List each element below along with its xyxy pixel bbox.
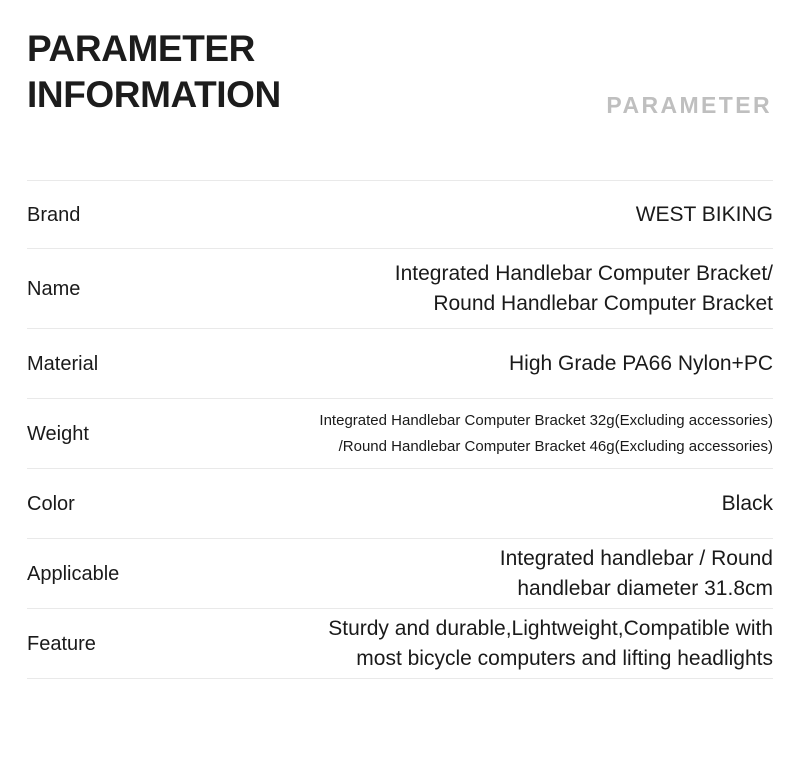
spec-value-brand: WEST BIKING xyxy=(159,200,773,230)
spec-label-color: Color xyxy=(27,491,159,517)
spec-value-name: Integrated Handlebar Computer Bracket/ R… xyxy=(159,259,773,319)
spec-label-applicable: Applicable xyxy=(27,561,159,587)
table-row: Brand WEST BIKING xyxy=(27,181,773,249)
spec-label-name: Name xyxy=(27,276,159,302)
table-row: Feature Sturdy and durable,Lightweight,C… xyxy=(27,609,773,679)
table-row: Name Integrated Handlebar Computer Brack… xyxy=(27,249,773,329)
spec-label-brand: Brand xyxy=(27,202,159,228)
spec-label-feature: Feature xyxy=(27,631,159,657)
table-row: Color Black xyxy=(27,469,773,539)
spec-label-weight: Weight xyxy=(27,421,159,447)
page-header: PARAMETER INFORMATION PARAMETER xyxy=(0,0,800,152)
parameter-information-page: PARAMETER INFORMATION PARAMETER Brand WE… xyxy=(0,0,800,776)
spec-label-material: Material xyxy=(27,351,159,377)
page-title: PARAMETER INFORMATION xyxy=(27,26,281,118)
spec-value-applicable: Integrated handlebar / Round handlebar d… xyxy=(159,544,773,604)
spec-value-feature: Sturdy and durable,Lightweight,Compatibl… xyxy=(159,614,773,674)
table-row: Weight Integrated Handlebar Computer Bra… xyxy=(27,399,773,469)
spec-value-weight: Integrated Handlebar Computer Bracket 32… xyxy=(159,408,773,460)
table-row: Material High Grade PA66 Nylon+PC xyxy=(27,329,773,399)
spec-value-material: High Grade PA66 Nylon+PC xyxy=(159,349,773,379)
header-watermark-label: PARAMETER xyxy=(606,92,772,119)
spec-value-color: Black xyxy=(159,489,773,519)
specification-table: Brand WEST BIKING Name Integrated Handle… xyxy=(27,180,773,679)
table-row: Applicable Integrated handlebar / Round … xyxy=(27,539,773,609)
